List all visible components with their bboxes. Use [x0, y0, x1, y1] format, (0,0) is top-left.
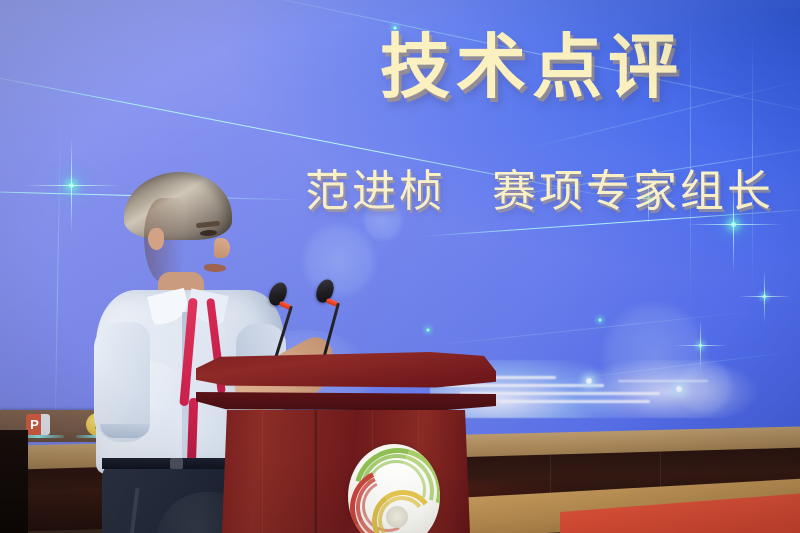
powerpoint-glyph: P [30, 418, 39, 431]
nose [214, 238, 230, 258]
slide-subtitle: 范进桢赛项专家组长 [305, 170, 774, 214]
glow-node-icon [730, 221, 737, 228]
sleeve-cuff [100, 424, 150, 438]
speaker-role: 赛项专家组长 [492, 167, 774, 216]
glow-node-icon [426, 328, 430, 332]
network-line [690, 10, 691, 310]
presentation-photo: 技术点评 范进桢赛项专家组长 P ♪ [0, 0, 800, 533]
speaker-name: 范进桢 [305, 167, 446, 216]
network-line [752, 30, 753, 290]
glow-node-icon [68, 182, 75, 189]
slide-title: 技术点评 [380, 32, 684, 102]
left-dark-edge [0, 430, 28, 533]
podium [196, 352, 496, 533]
podium-corner-bevel [314, 410, 317, 533]
glow-node-icon [762, 294, 767, 299]
network-line [430, 311, 758, 346]
podium-edge [196, 392, 496, 412]
belt-buckle [170, 458, 183, 469]
emblem-core [386, 506, 408, 528]
powerpoint-icon[interactable]: P [26, 414, 50, 435]
network-line [54, 120, 61, 460]
ear [148, 228, 164, 250]
podium-emblem [348, 444, 440, 533]
glow-node-icon [598, 318, 602, 322]
